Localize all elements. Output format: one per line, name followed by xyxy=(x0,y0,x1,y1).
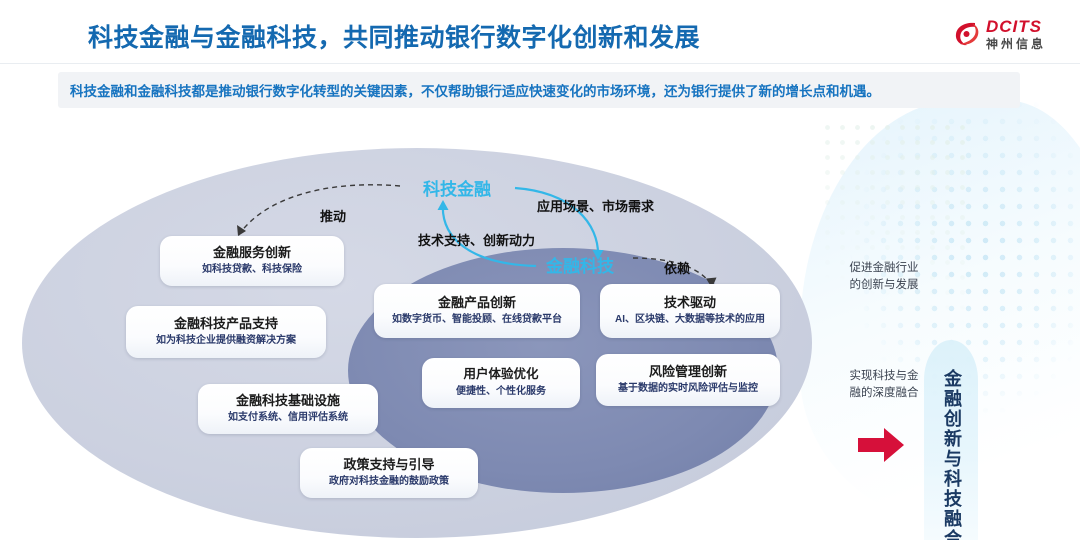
logo-english-name: DCITS xyxy=(986,18,1046,35)
page-title: 科技金融与金融科技，共同推动银行数字化创新和发展 xyxy=(88,18,700,54)
logo-chinese-name: 神州信息 xyxy=(986,38,1046,50)
box-subtitle: 基于数据的实时风险评估与监控 xyxy=(618,383,758,396)
box-financial-product-innovation[interactable]: 金融产品创新 如数字货币、智能投顾、在线贷款平台 xyxy=(374,284,580,338)
header-divider xyxy=(0,63,1080,64)
dcits-swoosh-logo-icon xyxy=(954,20,980,48)
box-subtitle: 便捷性、个性化服务 xyxy=(456,386,546,399)
box-title: 用户体验优化 xyxy=(463,367,538,383)
note-promote-innovation: 促进金融行业 的创新与发展 xyxy=(836,260,932,293)
box-title: 技术驱动 xyxy=(664,295,716,311)
box-fintech-infrastructure[interactable]: 金融科技基础设施 如支付系统、信用评估系统 xyxy=(198,384,378,434)
venn-diagram: 科技金融 金融科技 推动 技术支持、创新动力 应用场景、市场需求 依赖 金融服务… xyxy=(0,118,1080,540)
subtitle-text: 科技金融和金融科技都是推动银行数字化转型的关键因素，不仅帮助银行适应快速变化的市… xyxy=(70,80,880,100)
box-title: 金融服务创新 xyxy=(213,245,291,261)
label-market-demand: 应用场景、市场需求 xyxy=(537,196,654,215)
box-policy-support[interactable]: 政策支持与引导 政府对科技金融的鼓励政策 xyxy=(300,448,478,498)
label-tuidong: 推动 xyxy=(320,206,346,225)
subtitle-band: 科技金融和金融科技都是推动银行数字化转型的关键因素，不仅帮助银行适应快速变化的市… xyxy=(58,72,1020,108)
box-fintech-product-support[interactable]: 金融科技产品支持 如为科技企业提供融资解决方案 xyxy=(126,306,326,358)
box-user-experience-optimization[interactable]: 用户体验优化 便捷性、个性化服务 xyxy=(422,358,580,408)
vertical-title-text: 金融创新与科技融合 xyxy=(934,350,970,540)
label-tech-support: 技术支持、创新动力 xyxy=(418,230,535,249)
label-keji-jinrong: 科技金融 xyxy=(423,175,491,200)
box-risk-management-innovation[interactable]: 风险管理创新 基于数据的实时风险评估与监控 xyxy=(596,354,780,406)
box-subtitle: AI、区块链、大数据等技术的应用 xyxy=(615,314,765,327)
brand-logo: DCITS 神州信息 xyxy=(954,18,1046,50)
label-jinrong-keji: 金融科技 xyxy=(546,252,614,277)
box-subtitle: 如支付系统、信用评估系统 xyxy=(228,412,348,425)
label-yilai: 依赖 xyxy=(664,258,690,277)
box-subtitle: 如为科技企业提供融资解决方案 xyxy=(156,335,296,348)
box-technology-driven[interactable]: 技术驱动 AI、区块链、大数据等技术的应用 xyxy=(600,284,780,338)
box-title: 风险管理创新 xyxy=(649,364,727,380)
box-title: 金融产品创新 xyxy=(438,295,516,311)
box-financial-service-innovation[interactable]: 金融服务创新 如科技贷款、科技保险 xyxy=(160,236,344,286)
box-title: 政策支持与引导 xyxy=(343,457,434,473)
box-subtitle: 如数字货币、智能投顾、在线贷款平台 xyxy=(392,314,562,327)
slide-canvas: 科技金融与金融科技，共同推动银行数字化创新和发展 DCITS 神州信息 科技金融… xyxy=(0,0,1080,540)
box-title: 金融科技产品支持 xyxy=(174,316,278,332)
box-title: 金融科技基础设施 xyxy=(236,393,340,409)
box-subtitle: 如科技贷款、科技保险 xyxy=(202,264,302,277)
red-right-arrow-icon xyxy=(856,426,906,464)
box-subtitle: 政府对科技金融的鼓励政策 xyxy=(329,476,449,489)
note-deep-integration: 实现科技与金 融的深度融合 xyxy=(836,368,932,401)
logo-wordmark: DCITS 神州信息 xyxy=(986,18,1046,50)
